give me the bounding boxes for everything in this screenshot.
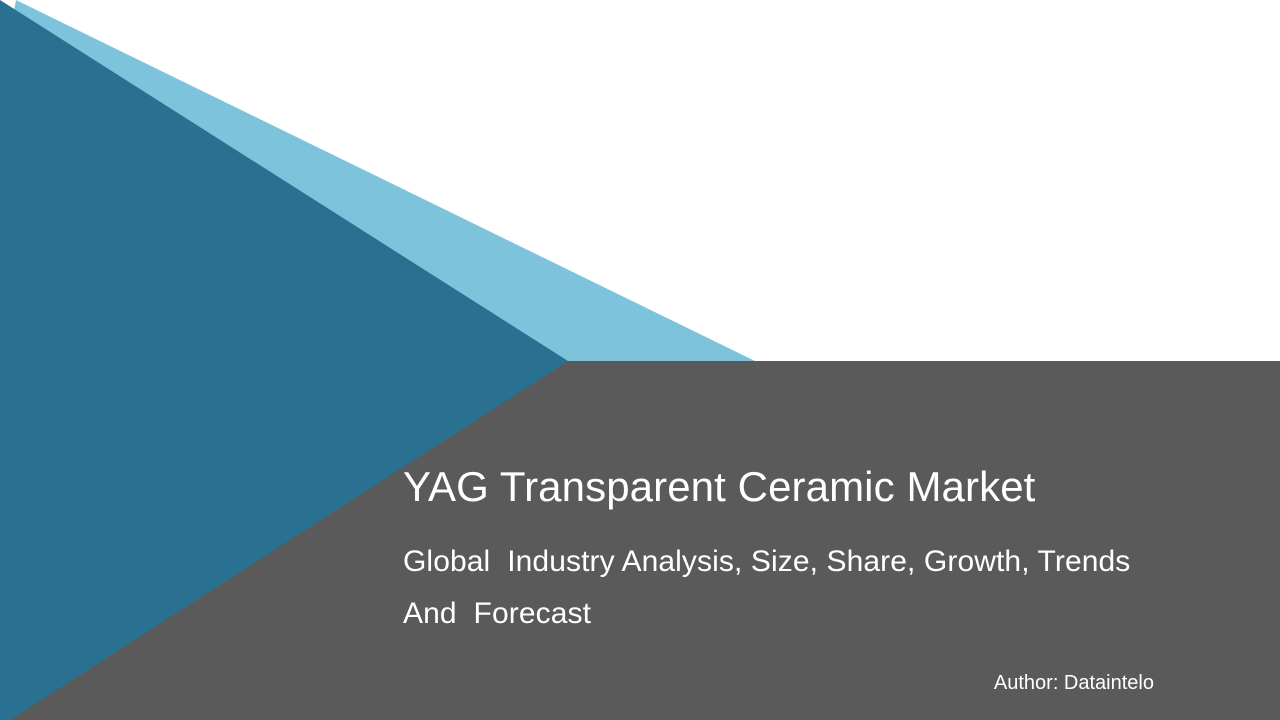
subtitle-block: Global Industry Analysis, Size, Share, G… [403, 536, 1223, 640]
title-slide: YAG Transparent Ceramic Market Global In… [0, 0, 1280, 720]
subtitle-line-1: Global Industry Analysis, Size, Share, G… [403, 536, 1223, 588]
author-label: Author: Dataintelo [403, 670, 1154, 696]
page-title: YAG Transparent Ceramic Market [403, 461, 1203, 514]
slide-content: YAG Transparent Ceramic Market Global In… [0, 0, 1280, 720]
title-block: YAG Transparent Ceramic Market [403, 461, 1203, 514]
subtitle-line-2: And Forecast [403, 588, 1223, 640]
author-block: Author: Dataintelo [403, 670, 1154, 696]
